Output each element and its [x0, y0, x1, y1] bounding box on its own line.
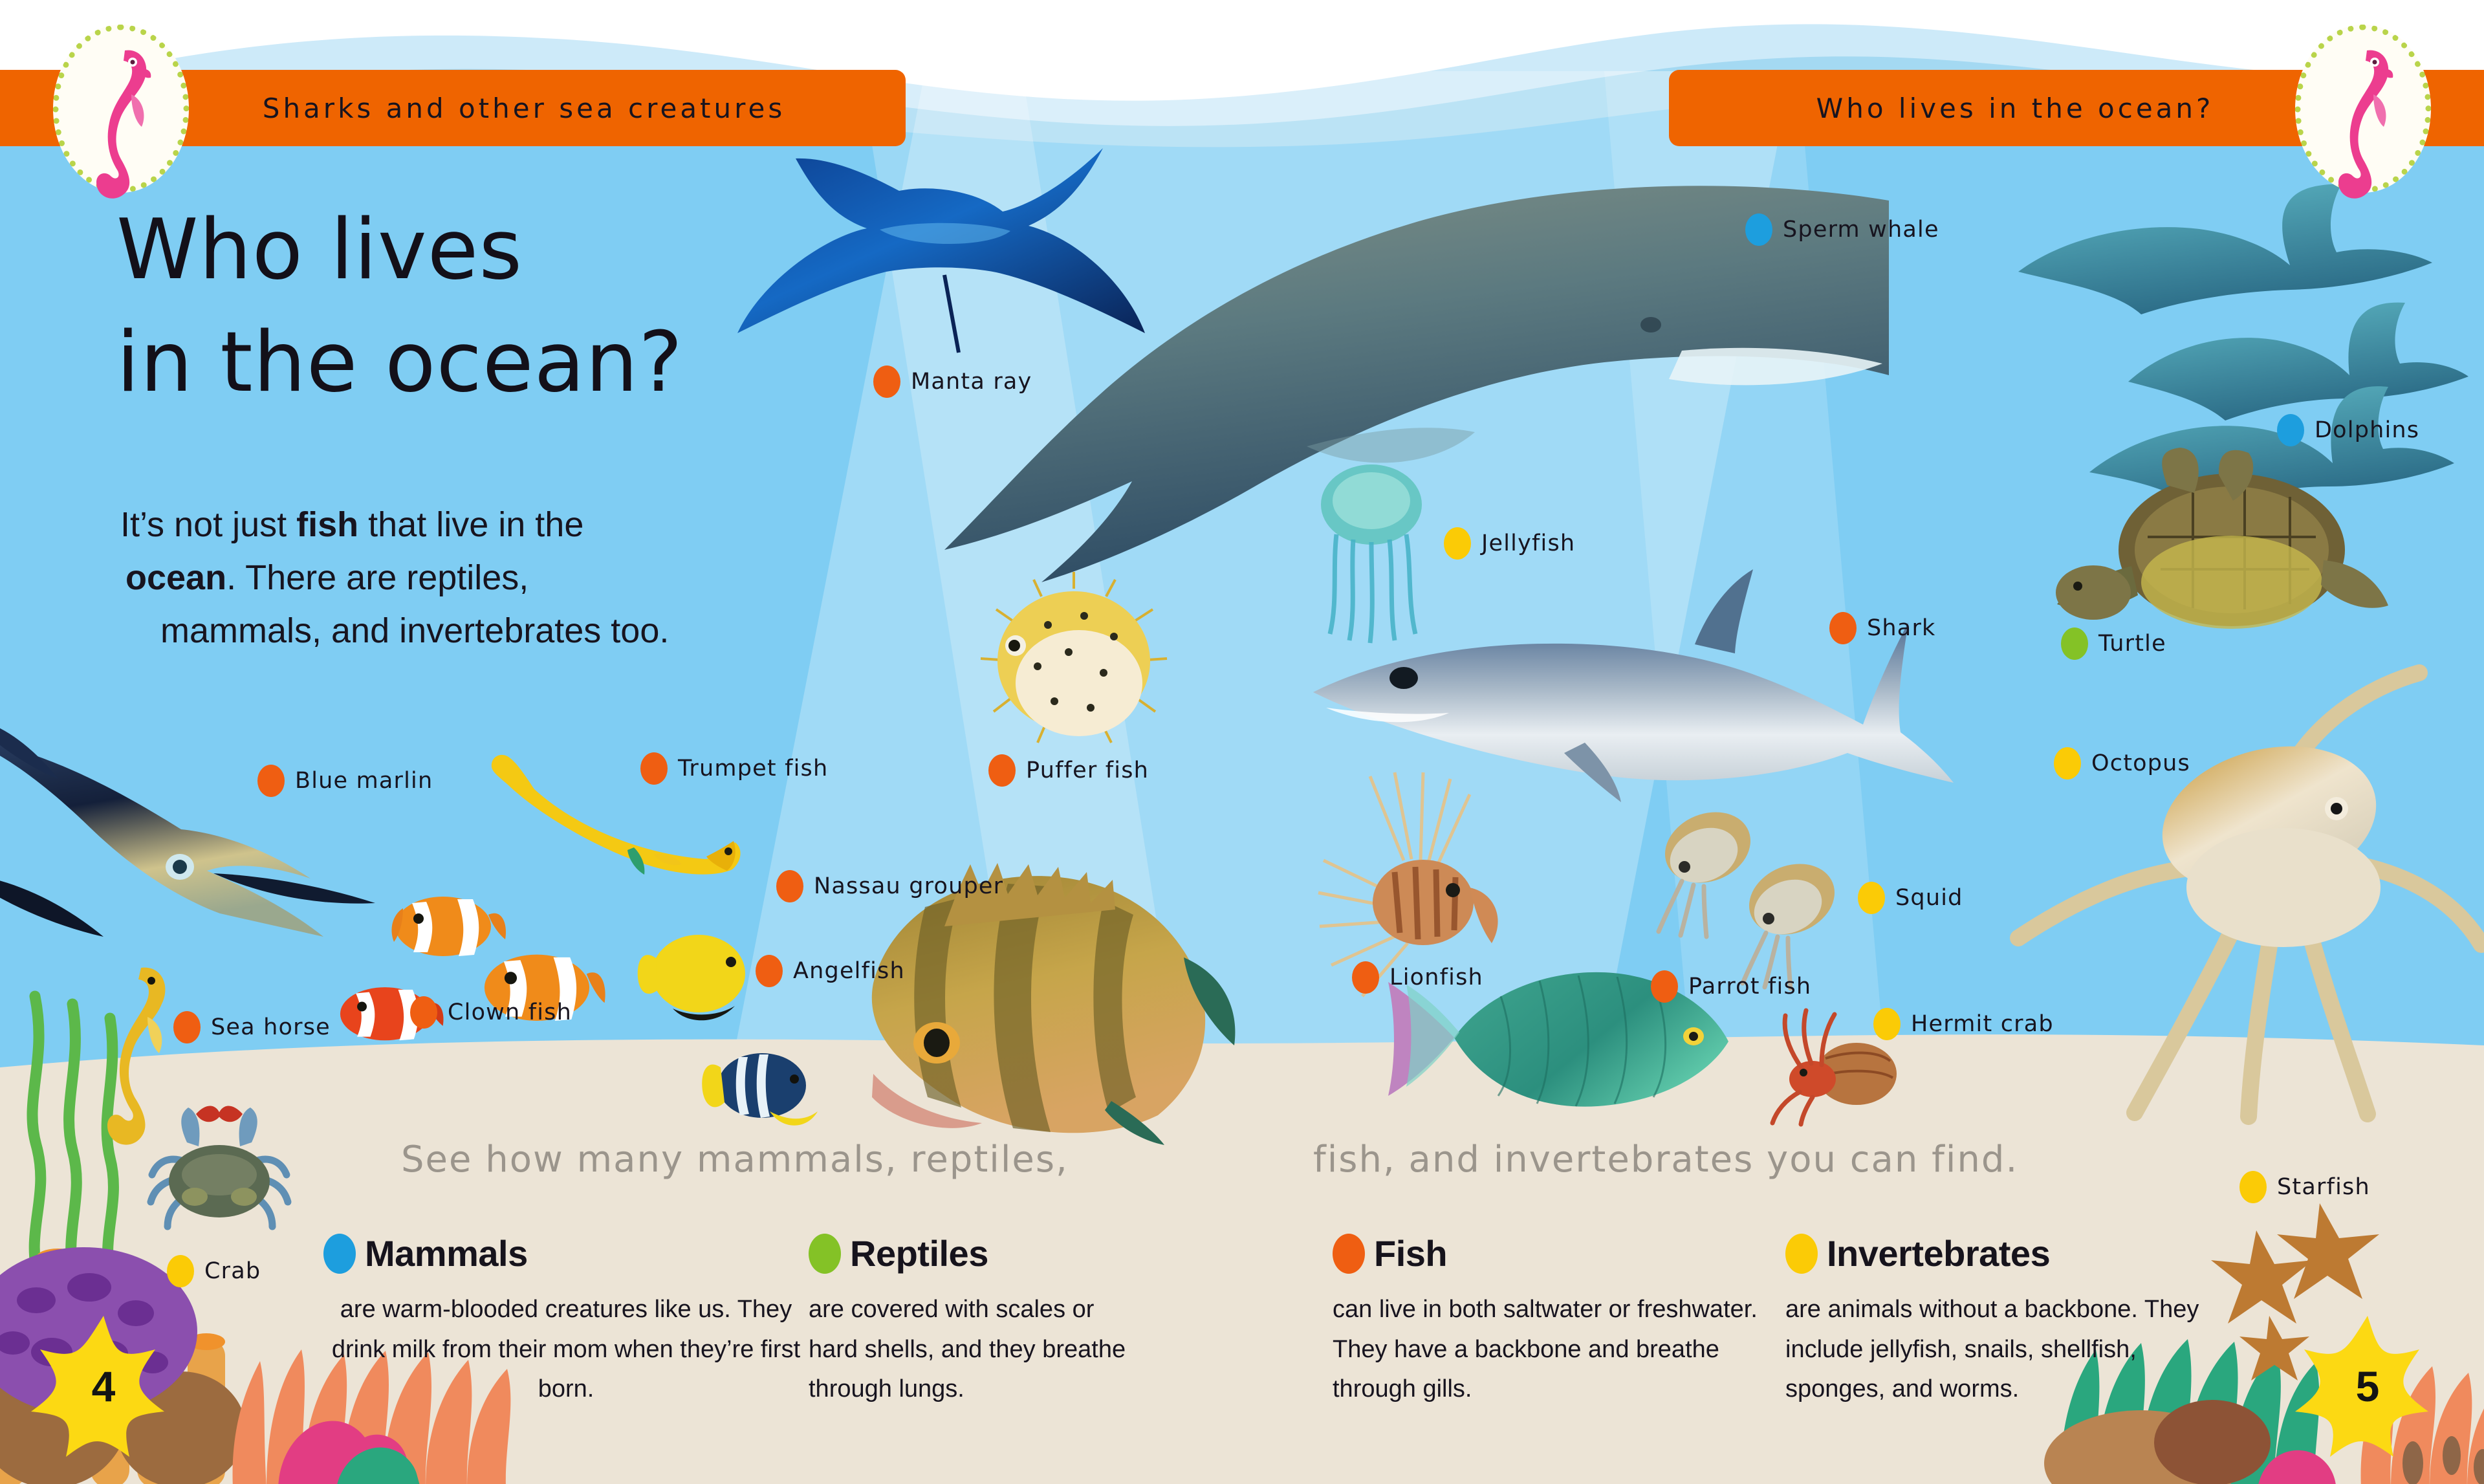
creature-label: Turtle — [2061, 627, 2166, 660]
creature-label-text: Trumpet fish — [678, 756, 828, 781]
creature-label-text: Lionfish — [1389, 965, 1483, 990]
creature-label: Shark — [1829, 612, 1936, 644]
intro-l1c: that live in the — [358, 505, 583, 544]
creature-label-text: Sea horse — [211, 1014, 331, 1040]
creature-label-dot — [257, 765, 285, 797]
creature-label-text: Squid — [1895, 885, 1963, 911]
intro-paragraph: It’s not just fish that live in the ocea… — [120, 498, 787, 657]
intro-bold-fish: fish — [296, 505, 358, 544]
intro-l2b: . There are reptiles, — [226, 558, 528, 597]
category-mammals: Mammals are warm-blooded creatures like … — [323, 1232, 802, 1410]
creature-label: Angelfish — [756, 955, 905, 987]
puffer-fish-image — [970, 569, 1177, 763]
creature-label-text: Sperm whale — [1783, 217, 1939, 243]
creature-label-dot — [1873, 1008, 1901, 1040]
seahorse-icon — [2324, 44, 2402, 173]
creature-label-dot — [873, 366, 900, 398]
creature-label-text: Nassau grouper — [814, 873, 1003, 899]
creature-label-dot — [410, 996, 437, 1029]
angelfish-image — [692, 1035, 828, 1139]
creature-label-dot — [1651, 970, 1678, 1003]
category-dot-invertebrates — [1785, 1234, 1818, 1274]
category-fish: Fish can live in both saltwater or fresh… — [1333, 1232, 1785, 1410]
category-name-reptiles: Reptiles — [850, 1232, 988, 1274]
legend-heading-part2: fish, and invertebrates you can find. — [1313, 1139, 2018, 1181]
legend-heading-part1: See how many mammals, reptiles, — [401, 1139, 1069, 1181]
intro-bold-ocean: ocean — [125, 558, 226, 597]
creature-label-dot — [1444, 527, 1471, 560]
blue-marlin-image — [0, 712, 427, 983]
creature-label-text: Angelfish — [793, 958, 905, 984]
jellyfish-image — [1307, 453, 1436, 647]
creature-label: Crab — [167, 1255, 261, 1287]
creature-label: Manta ray — [873, 366, 1032, 398]
category-body-reptiles: are covered with scales or hard shells, … — [809, 1290, 1145, 1410]
creature-label-dot — [2054, 747, 2081, 780]
creature-label-dot — [1858, 882, 1885, 914]
creature-label-dot — [173, 1011, 201, 1043]
creature-label: Starfish — [2239, 1171, 2370, 1203]
creature-label-dot — [167, 1255, 194, 1287]
creature-label: Dolphins — [2277, 414, 2419, 446]
category-body-invertebrates: are animals without a backbone. They inc… — [1785, 1290, 2238, 1410]
creature-label: Jellyfish — [1444, 527, 1575, 560]
category-reptiles: Reptiles are covered with scales or hard… — [809, 1232, 1145, 1410]
intro-l1a: It’s not just — [120, 505, 296, 544]
seahorse-badge-left — [53, 25, 189, 193]
creature-label-text: Parrot fish — [1688, 974, 1811, 999]
page-number-left-text: 4 — [92, 1362, 116, 1411]
seahorse-icon — [82, 44, 160, 173]
creature-label-dot — [2277, 414, 2304, 446]
creature-label-text: Turtle — [2098, 631, 2166, 657]
creature-label-text: Clown fish — [448, 999, 572, 1025]
creature-label-text: Blue marlin — [295, 768, 433, 794]
creature-label: Octopus — [2054, 747, 2190, 780]
creature-label: Parrot fish — [1651, 970, 1811, 1003]
intro-l3: mammals, and invertebrates too. — [160, 611, 669, 650]
category-dot-mammals — [323, 1234, 356, 1274]
octopus-image — [2005, 653, 2484, 1119]
nassau-grouper-image — [834, 860, 1248, 1145]
creature-label: Clown fish — [410, 996, 572, 1029]
creature-label-dot — [1745, 213, 1772, 246]
creature-label-text: Crab — [204, 1258, 261, 1284]
yellow-tang-image — [634, 922, 763, 1032]
creature-label: Sea horse — [173, 1011, 331, 1043]
creature-label-dot — [776, 870, 803, 902]
header-banner-left-text: Sharks and other sea creatures — [263, 93, 785, 124]
creature-label-dot — [1352, 961, 1379, 994]
category-body-fish: can live in both saltwater or freshwater… — [1333, 1290, 1785, 1410]
creature-label: Nassau grouper — [776, 870, 1003, 902]
category-dot-reptiles — [809, 1234, 841, 1274]
category-invertebrates: Invertebrates are animals without a back… — [1785, 1232, 2238, 1410]
creature-label-text: Octopus — [2091, 750, 2190, 776]
creature-label-dot — [2239, 1171, 2267, 1203]
creature-label-text: Manta ray — [911, 369, 1032, 395]
seahorse-badge-right — [2295, 25, 2431, 193]
category-name-invertebrates: Invertebrates — [1827, 1232, 2050, 1274]
creature-label-dot — [1829, 612, 1857, 644]
page-number-right: 5 — [2290, 1312, 2445, 1461]
category-dot-fish — [1333, 1234, 1365, 1274]
page-number-right-text: 5 — [2356, 1362, 2380, 1411]
creature-label-text: Hermit crab — [1911, 1011, 2054, 1037]
creature-label: Blue marlin — [257, 765, 433, 797]
creature-label-dot — [2061, 627, 2088, 660]
creature-label: Trumpet fish — [640, 752, 828, 785]
creature-label: Lionfish — [1352, 961, 1483, 994]
creature-label-dot — [640, 752, 668, 785]
creature-label-text: Puffer fish — [1026, 758, 1149, 783]
book-spread: Sharks and other sea creatures Who lives… — [0, 0, 2484, 1484]
category-name-mammals: Mammals — [365, 1232, 528, 1274]
category-body-mammals: are warm-blooded creatures like us. They… — [323, 1290, 802, 1410]
creature-label-text: Jellyfish — [1481, 530, 1575, 556]
creature-label-text: Starfish — [2277, 1174, 2370, 1200]
creature-label: Puffer fish — [988, 754, 1149, 787]
creature-label-text: Dolphins — [2315, 417, 2419, 443]
crab-image — [139, 1100, 301, 1249]
creature-label: Sperm whale — [1745, 213, 1939, 246]
creature-label: Squid — [1858, 882, 1963, 914]
creature-label-dot — [988, 754, 1016, 787]
page-number-left: 4 — [26, 1312, 181, 1461]
creature-label-text: Shark — [1867, 615, 1936, 641]
creature-label: Hermit crab — [1873, 1008, 2054, 1040]
category-name-fish: Fish — [1374, 1232, 1447, 1274]
creature-label-dot — [756, 955, 783, 987]
header-banner-right-text: Who lives in the ocean? — [1816, 93, 2214, 124]
